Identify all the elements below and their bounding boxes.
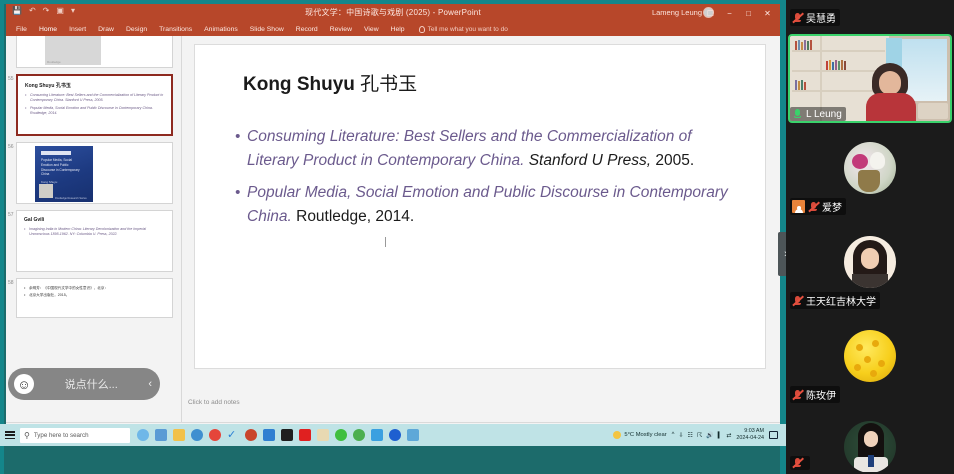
list-item[interactable]: Routledge	[16, 36, 173, 68]
volume-icon[interactable]: 🔊	[706, 432, 713, 439]
participant-tile-2[interactable]: 爱梦	[786, 125, 954, 219]
thumbnail-number: 55	[8, 76, 14, 82]
notification-icon[interactable]	[769, 431, 778, 439]
opera-icon[interactable]	[209, 429, 221, 441]
system-tray[interactable]: 5°C Mostly clear ^ ⇩ ☷ ☈ 🔊 ▍ ⇄ 9:03 AM 2…	[613, 428, 782, 442]
slide-bullet-1: Consuming Literature: Best Sellers and t…	[235, 125, 731, 173]
onedrive-icon[interactable]	[263, 429, 275, 441]
search-input[interactable]: ⚲ Type here to search	[20, 428, 130, 443]
book-cover-image: Popular Media, Social Emotion and Public…	[35, 146, 93, 202]
thumbnail-line-1: 余明芳：《中国现代文学中的女性意识》，北京：	[26, 286, 165, 291]
close-icon[interactable]: ✕	[758, 6, 777, 20]
tab-file[interactable]: File	[10, 26, 33, 33]
participant-tile-4[interactable]: 陈玫伊	[786, 313, 954, 407]
settings-icon[interactable]	[191, 429, 203, 441]
task-view-icon[interactable]	[155, 429, 167, 441]
smiley-face-icon[interactable]: ☺	[14, 374, 34, 394]
ribbon-tabs[interactable]: File Home Insert Draw Design Transitions…	[6, 22, 780, 36]
current-slide[interactable]: Kong Shuyu 孔书玉 Consuming Literature: Bes…	[194, 44, 766, 369]
participant-name-bar: L Leung	[790, 107, 846, 121]
slide-title-en: Kong Shuyu	[243, 74, 360, 95]
participant-name: L Leung	[806, 109, 842, 120]
slide-thumbnail-58[interactable]: 余明芳：《中国现代文学中的女性意识》，北京： 北京大学出版社，2015。	[16, 278, 173, 318]
list-item[interactable]: 55 Kong Shuyu 孔书玉 Consuming Literature: …	[16, 74, 173, 136]
wechat-icon[interactable]	[335, 429, 347, 441]
chevron-left-icon[interactable]: ‹	[148, 378, 154, 390]
participant-name-bar	[790, 456, 810, 470]
restore-icon[interactable]: □	[739, 6, 758, 20]
tab-design[interactable]: Design	[120, 26, 153, 33]
file-explorer-icon[interactable]	[173, 429, 185, 441]
avatar	[844, 330, 896, 382]
mic-on-icon	[792, 108, 803, 120]
cloud-icon[interactable]	[371, 429, 383, 441]
person-figure	[864, 63, 918, 121]
comment-bar[interactable]: ☺ 说点什么... ‹	[8, 368, 160, 400]
tab-insert[interactable]: Insert	[63, 26, 92, 33]
minimize-icon[interactable]: −	[720, 6, 739, 20]
weather-text: 5°C Mostly clear	[624, 432, 666, 438]
slide-thumbnail-54[interactable]: Routledge	[16, 36, 173, 68]
clock-date: 2024-04-24	[736, 435, 764, 442]
windows-taskbar[interactable]: ⚲ Type here to search ✓	[0, 424, 786, 446]
powerpoint-icon[interactable]	[245, 429, 257, 441]
slide-thumbnail-pane[interactable]: Routledge 55 Kong Shuyu 孔书玉 Consuming Li…	[6, 36, 182, 422]
tab-animations[interactable]: Animations	[198, 26, 244, 33]
cover-title: Popular Media, Social Emotion and Public…	[41, 158, 81, 177]
tell-me-label: Tell me what you want to do	[428, 26, 508, 33]
participant-name: 王天红吉林大学	[806, 293, 876, 308]
mic-muted-icon	[792, 389, 803, 401]
host-badge-icon	[792, 200, 805, 213]
participant-name-bar: 吴慧勇	[790, 9, 840, 26]
video-frame	[788, 409, 952, 472]
account-name[interactable]: Lameng Leung	[652, 8, 702, 17]
thumbnail-number: 56	[8, 144, 14, 150]
photos-icon[interactable]	[407, 429, 419, 441]
thumbnail-title: Gal Gvili	[24, 217, 172, 223]
input-method-icon[interactable]: ⇄	[726, 432, 731, 439]
clock-time: 9:03 AM	[736, 428, 764, 435]
mic-muted-icon	[808, 201, 819, 213]
youtube-icon[interactable]	[299, 429, 311, 441]
battery-icon[interactable]: ▍	[718, 432, 723, 439]
cover-footer: Routledge Research Series	[55, 197, 87, 200]
slide-body[interactable]: Consuming Literature: Best Sellers and t…	[235, 125, 731, 237]
slide-thumbnail-55[interactable]: Kong Shuyu 孔书玉 Consuming Literature: Bes…	[16, 74, 173, 136]
mail-icon[interactable]	[317, 429, 329, 441]
participant-tile-0[interactable]: 吴慧勇	[786, 0, 954, 32]
shared-screen-region: 💾 ↶ ↷ ▣ ▾ 现代文学：中国诗歌与戏剧 (2025) - PowerPoi…	[0, 0, 786, 474]
thumbnail-title: Kong Shuyu 孔书玉	[25, 82, 171, 89]
bluetooth-icon[interactable]: ☈	[697, 432, 702, 439]
tab-record[interactable]: Record	[290, 26, 324, 33]
download-icon[interactable]: ⇩	[678, 432, 683, 439]
avatar	[844, 142, 896, 194]
participant-name: 陈玫伊	[806, 387, 836, 402]
zoom-icon[interactable]	[281, 429, 293, 441]
clock[interactable]: 9:03 AM 2024-04-24	[736, 428, 764, 442]
share-border-left	[0, 0, 4, 474]
bullet-2-publisher: Routledge, 2014.	[292, 208, 414, 225]
ribbon-display-icon[interactable]: ☐	[701, 6, 720, 20]
slide-thumbnail-57[interactable]: Gal Gvili Imagining India in Modern Chin…	[16, 210, 173, 272]
tab-transitions[interactable]: Transitions	[153, 26, 198, 33]
thumbnail-bullet: Popular Media, Social Emotion and Public…	[27, 106, 164, 117]
tab-view[interactable]: View	[358, 26, 385, 33]
slide-title-cn: 孔书玉	[360, 74, 417, 95]
bullet-1-publisher: Stanford U Press,	[524, 152, 651, 169]
comment-input[interactable]: 说点什么...	[34, 376, 148, 392]
lightbulb-icon	[419, 26, 425, 33]
slide-editing-area[interactable]: Kong Shuyu 孔书玉 Consuming Literature: Bes…	[182, 36, 780, 422]
cortana-icon[interactable]	[137, 429, 149, 441]
todo-check-icon[interactable]: ✓	[227, 429, 239, 441]
tab-review[interactable]: Review	[324, 26, 358, 33]
participant-tile-5[interactable]	[786, 407, 954, 474]
participant-name-bar: 陈玫伊	[790, 386, 840, 403]
participant-tile-3[interactable]: 王天红吉林大学	[786, 219, 954, 313]
mic-muted-icon	[792, 295, 803, 307]
taskbar-app-icons[interactable]: ✓	[137, 429, 419, 441]
tab-help[interactable]: Help	[385, 26, 411, 33]
show-hidden-icon[interactable]: ^	[672, 432, 675, 438]
participant-strip[interactable]: 吴慧勇	[786, 0, 954, 474]
windows-start-icon[interactable]	[4, 429, 16, 441]
list-item[interactable]: 57 Gal Gvili Imagining India in Modern C…	[16, 210, 173, 272]
tab-draw[interactable]: Draw	[92, 26, 120, 33]
chrome-icon[interactable]	[353, 429, 365, 441]
powerpoint-body: Routledge 55 Kong Shuyu 孔书玉 Consuming Li…	[6, 36, 780, 422]
participant-name: 吴慧勇	[806, 10, 836, 25]
participant-name-bar: 王天红吉林大学	[790, 292, 880, 309]
mic-muted-icon	[792, 457, 803, 469]
thumbnail-bullet: Imagining India in Modern China: Literar…	[26, 227, 165, 238]
search-icon: ⚲	[24, 431, 30, 440]
notes-placeholder[interactable]: Click to add notes	[182, 396, 780, 410]
window-controls[interactable]: ☐ − □ ✕	[701, 6, 777, 20]
list-item[interactable]: 58 余明芳：《中国现代文学中的女性意识》，北京： 北京大学出版社，2015。	[16, 278, 173, 318]
participant-tile-1[interactable]: L Leung	[786, 32, 954, 125]
weather-widget[interactable]: 5°C Mostly clear	[613, 431, 666, 439]
slide-bullet-2: Popular Media, Social Emotion and Public…	[235, 181, 731, 229]
tab-slide-show[interactable]: Slide Show	[244, 26, 290, 33]
thumbnail-bullet: Consuming Literature: Best Sellers and t…	[27, 93, 164, 104]
search-placeholder: Type here to search	[34, 432, 89, 439]
sun-icon	[613, 431, 621, 439]
screen: 💾 ↶ ↷ ▣ ▾ 现代文学：中国诗歌与戏剧 (2025) - PowerPoi…	[0, 0, 954, 474]
tell-me-search[interactable]: Tell me what you want to do	[419, 26, 508, 33]
edge-icon[interactable]	[389, 429, 401, 441]
participant-name: 爱梦	[822, 199, 842, 214]
mic-muted-icon	[792, 12, 803, 24]
slide-thumbnail-56[interactable]: Popular Media, Social Emotion and Public…	[16, 142, 173, 204]
thumbnail-number: 58	[8, 280, 14, 286]
participant-name-bar: 爱梦	[790, 198, 846, 215]
network-icon[interactable]: ☷	[688, 432, 693, 439]
slide-title[interactable]: Kong Shuyu 孔书玉	[243, 69, 417, 96]
powerpoint-window: 💾 ↶ ↷ ▣ ▾ 现代文学：中国诗歌与戏剧 (2025) - PowerPoi…	[6, 4, 780, 422]
text-caret	[385, 237, 386, 247]
chevron-right-icon[interactable]: ›	[778, 232, 786, 276]
bullet-1-year: 2005.	[651, 152, 694, 169]
avatar	[844, 236, 896, 288]
avatar	[844, 421, 896, 472]
tab-home[interactable]: Home	[33, 26, 63, 33]
powerpoint-title-bar: 💾 ↶ ↷ ▣ ▾ 现代文学：中国诗歌与戏剧 (2025) - PowerPoi…	[6, 4, 780, 22]
thumbnail-line-2: 北京大学出版社，2015。	[26, 293, 165, 298]
list-item[interactable]: 56 Popular Media, Social Emotion and Pub…	[16, 142, 173, 204]
thumbnail-number: 57	[8, 212, 14, 218]
